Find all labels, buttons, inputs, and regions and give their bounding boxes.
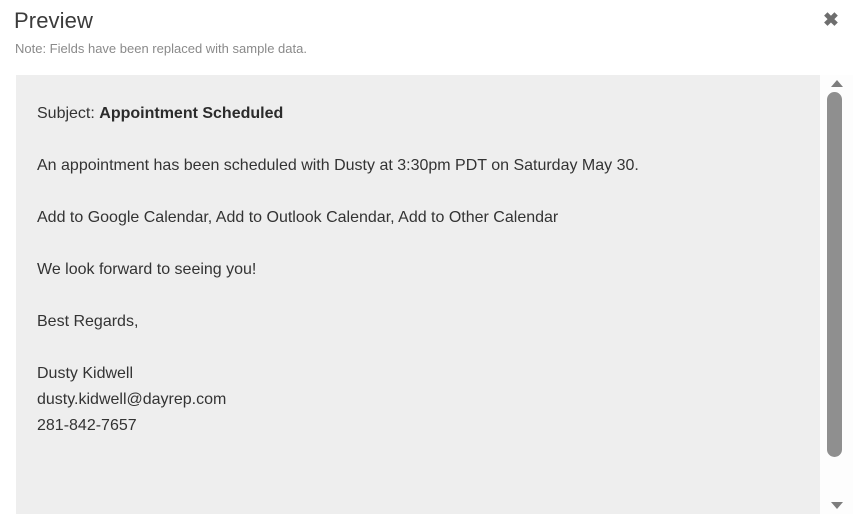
chevron-down-glyph bbox=[831, 502, 843, 509]
signature-email: dusty.kidwell@dayrep.com bbox=[37, 387, 806, 413]
chevron-down-icon[interactable] bbox=[820, 497, 853, 514]
preview-note: Note: Fields have been replaced with sam… bbox=[15, 40, 307, 58]
email-paragraph: We look forward to seeing you! bbox=[37, 257, 806, 283]
chevron-up-icon[interactable] bbox=[820, 75, 853, 92]
email-paragraph: An appointment has been scheduled with D… bbox=[37, 153, 806, 179]
scrollbar-thumb[interactable] bbox=[827, 92, 842, 457]
email-body: Subject: Appointment Scheduled An appoin… bbox=[37, 101, 806, 439]
page-title: Preview bbox=[14, 7, 93, 35]
scrollbar-track[interactable] bbox=[820, 92, 853, 497]
preview-scrollbar[interactable] bbox=[820, 75, 853, 514]
close-icon[interactable]: ✖ bbox=[817, 6, 845, 34]
email-paragraph: Best Regards, bbox=[37, 309, 806, 335]
preview-modal-header: Preview Note: Fields have been replaced … bbox=[0, 0, 853, 75]
email-subject-label: Subject: bbox=[37, 105, 95, 122]
chevron-up-glyph bbox=[831, 80, 843, 87]
email-subject-line: Subject: Appointment Scheduled bbox=[37, 101, 806, 127]
signature-name: Dusty Kidwell bbox=[37, 361, 806, 387]
email-subject-value: Appointment Scheduled bbox=[99, 105, 283, 122]
email-preview-panel: Subject: Appointment Scheduled An appoin… bbox=[16, 75, 820, 514]
signature-phone: 281-842-7657 bbox=[37, 413, 806, 439]
email-paragraph: Add to Google Calendar, Add to Outlook C… bbox=[37, 205, 806, 231]
